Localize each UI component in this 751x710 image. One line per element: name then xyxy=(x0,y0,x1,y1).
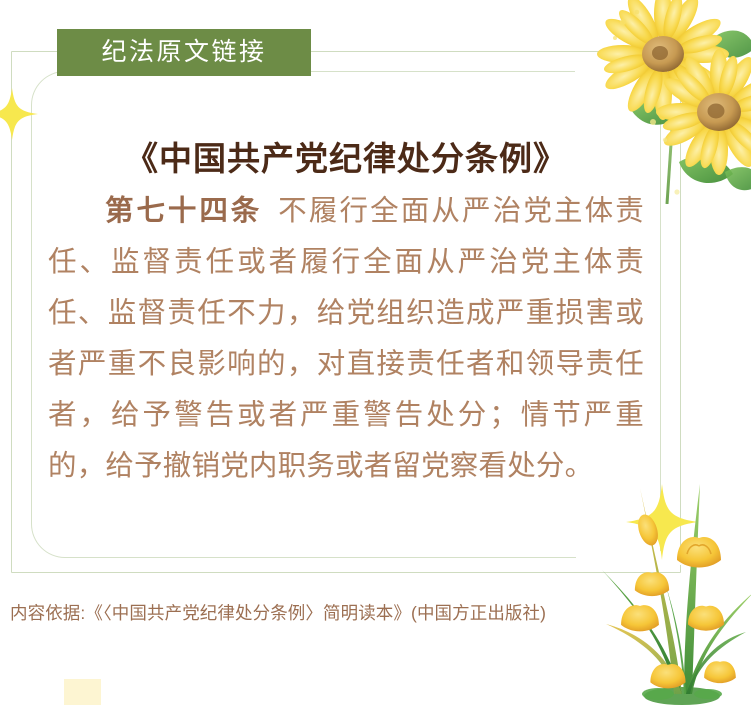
source-note: 内容依据:《〈中国共产党纪律处分条例〉简明读本》(中国方正出版社) xyxy=(10,600,710,625)
poster-canvas: 纪法原文链接 xyxy=(0,0,751,710)
grass-plant-icon xyxy=(596,480,751,710)
article-text: 不履行全面从严治党主体责任、监督责任或者履行全面从严治党主体责任、监督责任不力，… xyxy=(48,195,644,482)
sparkle-star-icon xyxy=(0,86,40,142)
article-content: 《中国共产党纪律处分条例》 第七十四条不履行全面从严治党主体责任、监督责任或者履… xyxy=(48,138,644,492)
article-number: 第七十四条 xyxy=(105,195,262,227)
article-paragraph: 第七十四条不履行全面从严治党主体责任、监督责任或者履行全面从严治党主体责任、监督… xyxy=(48,186,644,492)
cream-accent-block xyxy=(64,679,101,705)
header-badge[interactable]: 纪法原文链接 xyxy=(57,29,311,76)
header-badge-label: 纪法原文链接 xyxy=(101,40,266,65)
document-title: 《中国共产党纪律处分条例》 xyxy=(48,138,644,180)
